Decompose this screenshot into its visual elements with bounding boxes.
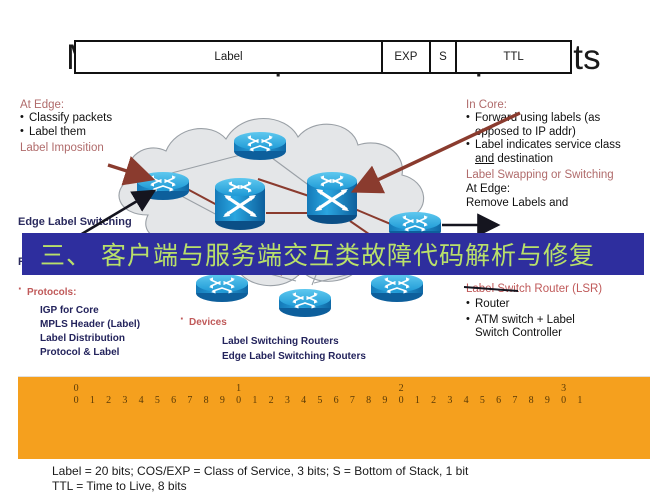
header-caption: Label = 20 bits; COS/EXP = Class of Serv…: [52, 464, 652, 494]
bit-ruler-tens-cell: [539, 383, 555, 395]
bit-ruler-tens-cell: [117, 383, 133, 395]
bit-ruler-tens-cell: [507, 383, 523, 395]
core-router-bottom-right: [371, 274, 423, 302]
bit-ruler-tens-cell: [344, 383, 360, 395]
bit-ruler-tens-cell: [247, 383, 263, 395]
caption-line-1: Label = 20 bits; COS/EXP = Class of Serv…: [52, 464, 652, 479]
bit-ruler-tens-cell: 1: [231, 383, 247, 395]
bit-ruler-tens-cell: [133, 383, 149, 395]
bit-ruler-tens-cell: 3: [556, 383, 572, 395]
bit-ruler-tens-cell: [166, 383, 182, 395]
caption-line-2: TTL = Time to Live, 8 bits: [52, 479, 652, 494]
bit-ruler-tens-cell: [361, 383, 377, 395]
bit-ruler-tens-cell: [296, 383, 312, 395]
bit-ruler-ones-cell: 3: [117, 395, 133, 408]
bit-ruler-ones-cell: 8: [523, 395, 539, 408]
bit-ruler-tens-cell: [328, 383, 344, 395]
device-item-1: Edge Label Switching Routers: [222, 349, 410, 364]
bit-ruler-ones-cell: 7: [507, 395, 523, 408]
bit-ruler-tens-cell: [312, 383, 328, 395]
core-router-bottom-left: [196, 274, 248, 302]
bit-ruler-ones-cell: 3: [442, 395, 458, 408]
bit-ruler-ones-cell: 4: [133, 395, 149, 408]
bit-ruler-tens-cell: [279, 383, 295, 395]
bit-ruler-ones-cell: 1: [572, 395, 588, 408]
header-field-s: S: [431, 42, 457, 72]
bit-ruler-ones-row: 01234567890123456789012345678901: [68, 395, 588, 408]
bit-ruler-ones-cell: 9: [539, 395, 555, 408]
bit-ruler-tens-cell: [214, 383, 230, 395]
bit-ruler-ones-cell: 0: [393, 395, 409, 408]
bit-ruler-ones-cell: 8: [361, 395, 377, 408]
bit-ruler-tens-cell: [84, 383, 100, 395]
bit-ruler-tens-row: 0123: [68, 383, 588, 395]
bit-ruler-tens-cell: [263, 383, 279, 395]
mpls-header-panel: 0123 01234567890123456789012345678901: [18, 376, 650, 459]
bit-ruler-ones-cell: 4: [296, 395, 312, 408]
slide-canvas: MPLS Concepts and Components: [0, 0, 667, 500]
lsr-switch-center-left: [215, 178, 265, 230]
lsr-callout-line: [464, 287, 518, 291]
bit-ruler-tens-cell: [523, 383, 539, 395]
bit-ruler-ones-cell: 7: [182, 395, 198, 408]
bit-ruler-tens-cell: [198, 383, 214, 395]
bit-ruler-ones-cell: 0: [556, 395, 572, 408]
bit-ruler-tens-cell: [182, 383, 198, 395]
bit-ruler-ones-cell: 8: [198, 395, 214, 408]
bit-ruler-ones-cell: 1: [409, 395, 425, 408]
header-field-label: Label: [76, 42, 383, 72]
bit-ruler-ones-cell: 0: [231, 395, 247, 408]
bit-ruler-ones-cell: 9: [377, 395, 393, 408]
bit-ruler-ones-cell: 0: [68, 395, 84, 408]
bit-ruler-ones-cell: 6: [166, 395, 182, 408]
lsr-switch-center-right: [307, 172, 357, 224]
bit-ruler-ones-cell: 5: [149, 395, 165, 408]
bit-ruler-tens-cell: [149, 383, 165, 395]
banner-text: 三、 客户端与服务端交互类故障代码解析与修复: [22, 236, 595, 272]
bit-ruler-ones-cell: 5: [312, 395, 328, 408]
chinese-title-banner: 三、 客户端与服务端交互类故障代码解析与修复: [22, 233, 644, 275]
mpls-header-fields: Label EXP S TTL: [74, 40, 572, 74]
bit-ruler-ones-cell: 6: [491, 395, 507, 408]
bit-ruler-tens-cell: [377, 383, 393, 395]
bit-ruler-ones-cell: 2: [101, 395, 117, 408]
bit-ruler-tens-cell: 0: [68, 383, 84, 395]
core-router-top: [234, 132, 286, 160]
bit-ruler-tens-cell: [426, 383, 442, 395]
bit-ruler-tens-cell: [491, 383, 507, 395]
bit-ruler-ones-cell: 5: [474, 395, 490, 408]
header-field-ttl: TTL: [457, 42, 570, 72]
bit-ruler-ones-cell: 7: [344, 395, 360, 408]
bit-ruler-tens-cell: [101, 383, 117, 395]
bit-ruler-tens-cell: [458, 383, 474, 395]
header-field-exp: EXP: [383, 42, 431, 72]
core-router-bottom-mid: [279, 289, 331, 317]
mpls-network-diagram: [60, 95, 530, 350]
bit-ruler-ones-cell: 6: [328, 395, 344, 408]
bit-ruler-tens-cell: 2: [393, 383, 409, 395]
bit-ruler-ones-cell: 1: [84, 395, 100, 408]
bit-ruler-tens-cell: [572, 383, 588, 395]
bit-ruler-tens-cell: [442, 383, 458, 395]
bit-ruler-ones-cell: 3: [279, 395, 295, 408]
bit-ruler-ones-cell: 1: [247, 395, 263, 408]
bit-ruler-tens-cell: [409, 383, 425, 395]
bit-ruler-ones-cell: 2: [426, 395, 442, 408]
bit-ruler-tens-cell: [474, 383, 490, 395]
bit-ruler-ones-cell: 2: [263, 395, 279, 408]
bit-ruler-ones-cell: 4: [458, 395, 474, 408]
bit-ruler: 0123 01234567890123456789012345678901: [68, 383, 588, 408]
bit-ruler-ones-cell: 9: [214, 395, 230, 408]
